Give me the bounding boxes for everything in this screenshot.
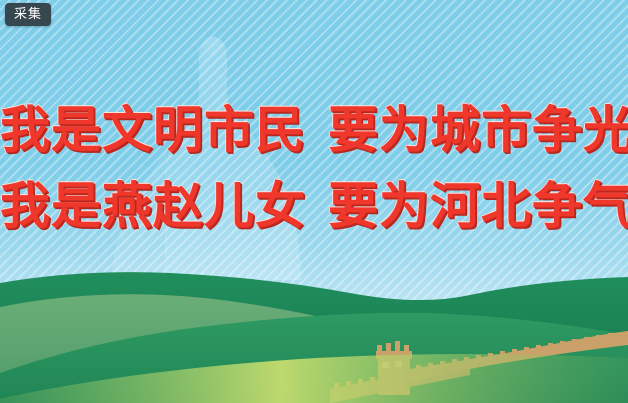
slogan-line-1: 我是文明市民要为城市争光 xyxy=(0,92,628,168)
hills-and-great-wall xyxy=(0,263,628,403)
banner-image: 我是文明市民要为城市争光 我是燕赵儿女要为河北争气 采集 xyxy=(0,0,628,403)
slogan-line-1-right: 要为城市争光 xyxy=(328,102,628,158)
slogan-line-1-left: 我是文明市民 xyxy=(0,102,306,158)
slogan-line-2-left: 我是燕赵儿女 xyxy=(0,178,306,234)
slogan-line-2-right: 要为河北争气 xyxy=(328,178,628,234)
capture-badge[interactable]: 采集 xyxy=(5,3,51,26)
slogan-block: 我是文明市民要为城市争光 我是燕赵儿女要为河北争气 xyxy=(0,92,628,244)
slogan-line-2: 我是燕赵儿女要为河北争气 xyxy=(0,168,628,244)
